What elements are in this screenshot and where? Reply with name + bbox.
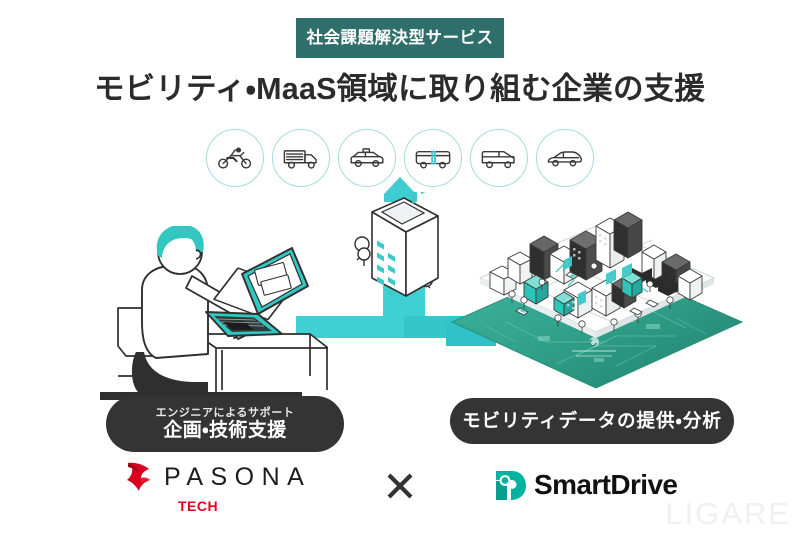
truck-icon: [282, 145, 320, 171]
icon-circle-truck: [272, 129, 330, 187]
smartdrive-wordmark: SmartDrive: [534, 471, 677, 499]
engineer-at-laptop-illustration: [96, 226, 328, 402]
van-icon: [480, 145, 518, 171]
icon-circle-car: [536, 129, 594, 187]
smartdrive-mark-icon: [494, 469, 527, 502]
pasona-wordmark: PASONA: [164, 465, 311, 490]
bus-icon: [414, 145, 452, 171]
label-pill-left-subtitle: エンジニアによるサポート: [156, 407, 295, 419]
taxi-icon: [348, 145, 386, 171]
label-pill-right-title: モビリティデータの提供・分析: [462, 411, 722, 431]
icon-circle-motorcycle: [206, 129, 264, 187]
motorcycle-icon: [216, 145, 254, 171]
pasona-mark-icon: [122, 460, 156, 494]
category-badge: 社会課題解決型サービス: [296, 18, 504, 58]
infographic-canvas: 社会課題解決型サービス モビリティ・MaaS領域に取り組む企業の支援: [0, 0, 799, 533]
icon-circle-van: [470, 129, 528, 187]
car-icon: [546, 145, 584, 171]
pasona-tech-logo: PASONA TECH: [122, 460, 332, 512]
category-badge-label: 社会課題解決型サービス: [307, 30, 494, 47]
smartdrive-logo: SmartDrive: [494, 465, 694, 505]
office-building-illustration: [352, 192, 450, 308]
cross-separator-icon: [384, 470, 416, 502]
label-pill-left-title: 企画・技術支援: [163, 421, 286, 442]
label-pill-left: エンジニアによるサポート 企画・技術支援: [106, 396, 344, 452]
pasona-tech-wordmark: TECH: [178, 499, 332, 513]
smart-city-illustration: [446, 196, 746, 396]
page-title: モビリティ・MaaS領域に取り組む企業の支援: [0, 70, 799, 108]
ligare-watermark: LIGARE: [665, 498, 791, 529]
label-pill-right: モビリティデータの提供・分析: [450, 398, 734, 444]
